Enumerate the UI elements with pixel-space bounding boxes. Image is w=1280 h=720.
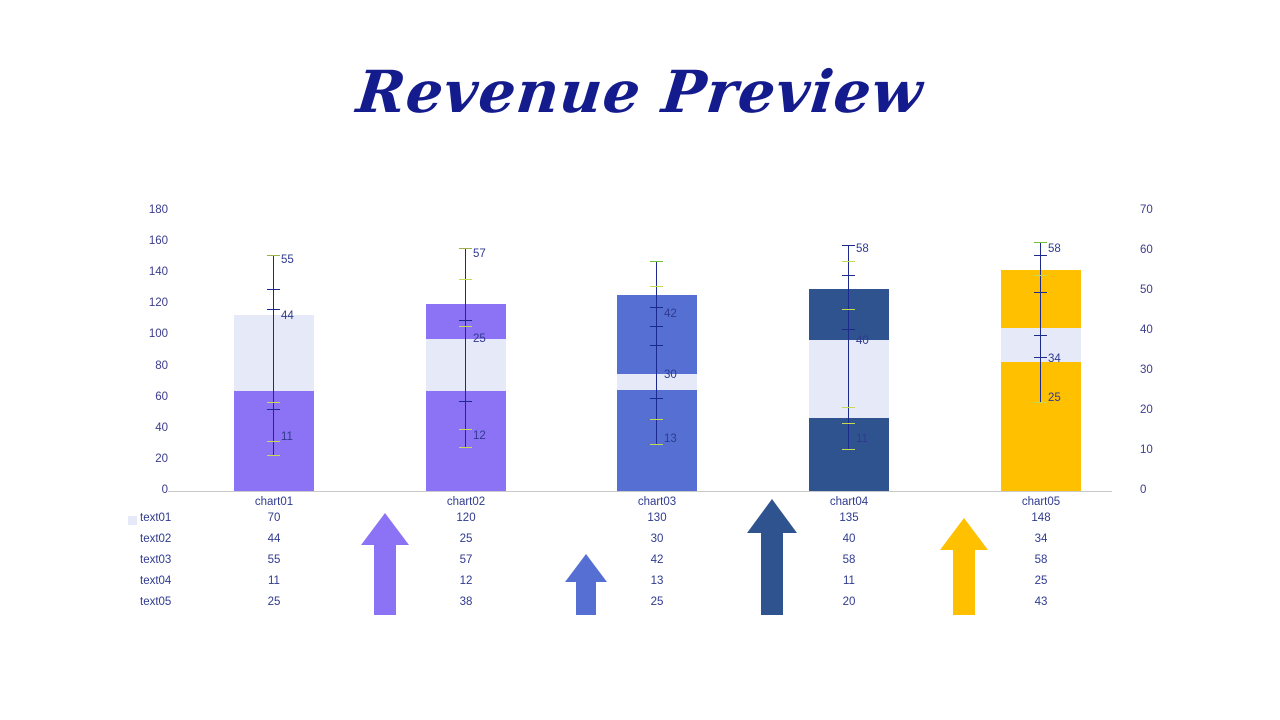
right-axis-tick: 50 xyxy=(1140,284,1180,296)
page-title: Revenue Preview xyxy=(0,62,1280,123)
table-cell: 58 xyxy=(789,554,909,566)
table-cell: 12 xyxy=(406,575,526,587)
table-cell: 44 xyxy=(214,533,334,545)
arrow-purple-icon xyxy=(361,513,409,615)
right-axis-tick: 40 xyxy=(1140,324,1180,336)
column-chart02[interactable] xyxy=(426,208,506,491)
error-bar-cap xyxy=(842,309,855,310)
table-cell: 130 xyxy=(597,512,717,524)
right-axis-tick: 20 xyxy=(1140,404,1180,416)
arrow-head xyxy=(747,499,797,533)
error-bar-cap xyxy=(842,329,855,330)
table-row: text035557425858 xyxy=(0,554,1280,575)
left-axis-tick: 0 xyxy=(128,484,168,496)
error-bar-cap xyxy=(650,345,663,346)
data-label: 42 xyxy=(664,308,677,320)
table-cell: 25 xyxy=(597,596,717,608)
data-label: 30 xyxy=(664,369,677,381)
error-bar-cap xyxy=(842,275,855,276)
left-axis-tick: 40 xyxy=(128,422,168,434)
error-bar-cap xyxy=(267,289,280,290)
left-axis-tick: 180 xyxy=(128,204,168,216)
error-bar-cap xyxy=(267,409,280,410)
error-bar-cap xyxy=(1034,335,1047,336)
column-chart05[interactable] xyxy=(1001,208,1081,491)
data-label: 25 xyxy=(1048,392,1061,404)
error-bar-cap xyxy=(459,248,472,249)
error-bar-cap xyxy=(842,423,855,424)
table-cell: 13 xyxy=(597,575,717,587)
table-cell: 11 xyxy=(214,575,334,587)
error-bar xyxy=(848,245,849,449)
data-label: 25 xyxy=(473,333,486,345)
bar-segment[interactable] xyxy=(617,390,697,491)
column-chart01[interactable] xyxy=(234,208,314,491)
arrow-head xyxy=(361,513,409,545)
error-bar-cap xyxy=(1034,255,1047,256)
data-label: 12 xyxy=(473,430,486,442)
table-cell: 57 xyxy=(406,554,526,566)
error-bar-cap xyxy=(650,419,663,420)
error-bar-cap xyxy=(650,398,663,399)
error-bar xyxy=(273,255,274,456)
right-axis-tick: 30 xyxy=(1140,364,1180,376)
plot-area: 554411572512423013584011583425 xyxy=(172,208,1107,492)
left-axis-tick: 140 xyxy=(128,266,168,278)
left-axis-tick: 100 xyxy=(128,328,168,340)
error-bar-cap xyxy=(459,279,472,280)
table-row: text052538252043 xyxy=(0,596,1280,617)
bar-segment[interactable] xyxy=(426,391,506,491)
bar-segment[interactable] xyxy=(426,339,506,392)
category-label-chart03: chart03 xyxy=(597,496,717,508)
error-bar-cap xyxy=(459,320,472,321)
error-bar-cap xyxy=(459,429,472,430)
bar-segment[interactable] xyxy=(234,315,314,391)
column-chart03[interactable] xyxy=(617,208,697,491)
table-cell: 34 xyxy=(981,533,1101,545)
table-cell: 120 xyxy=(406,512,526,524)
bar-segment[interactable] xyxy=(809,418,889,491)
error-bar-cap xyxy=(650,307,663,308)
table-row: text0170120130135148 xyxy=(0,512,1280,533)
arrow-shaft xyxy=(761,532,783,615)
right-axis-tick: 0 xyxy=(1140,484,1180,496)
error-bar-cap xyxy=(1034,357,1047,358)
data-label: 58 xyxy=(1048,243,1061,255)
category-label-chart02: chart02 xyxy=(406,496,526,508)
error-bar-cap xyxy=(650,261,663,262)
left-axis-tick: 80 xyxy=(128,360,168,372)
error-bar-cap xyxy=(1034,275,1047,276)
slide-canvas: Revenue Preview 180160140120100806040200… xyxy=(0,0,1280,720)
error-bar-cap xyxy=(267,255,280,256)
arrow-head xyxy=(940,518,988,550)
arrow-navy-icon xyxy=(747,499,797,615)
table-cell: 38 xyxy=(406,596,526,608)
data-label: 11 xyxy=(856,433,868,445)
left-axis-tick: 160 xyxy=(128,235,168,247)
data-label: 57 xyxy=(473,248,486,260)
error-bar-cap xyxy=(459,326,472,327)
table-cell: 148 xyxy=(981,512,1101,524)
error-bar xyxy=(465,248,466,447)
error-bar xyxy=(656,261,657,445)
error-bar-cap xyxy=(267,309,280,310)
error-bar-cap xyxy=(842,261,855,262)
table-cell: 70 xyxy=(214,512,334,524)
error-bar-cap xyxy=(1034,292,1047,293)
category-label-chart01: chart01 xyxy=(214,496,334,508)
arrow-shaft xyxy=(374,544,396,615)
data-label: 13 xyxy=(664,433,677,445)
table-cell: 11 xyxy=(789,575,909,587)
error-bar xyxy=(1040,242,1041,402)
arrow-shaft xyxy=(953,549,975,615)
error-bar-cap xyxy=(459,401,472,402)
error-bar-cap xyxy=(1034,402,1047,403)
error-bar-cap xyxy=(650,444,663,445)
table-row: text041112131125 xyxy=(0,575,1280,596)
bar-segment[interactable] xyxy=(426,304,506,338)
error-bar-cap xyxy=(267,455,280,456)
table-cell: 43 xyxy=(981,596,1101,608)
error-bar-cap xyxy=(842,449,855,450)
left-axis-tick: 60 xyxy=(128,391,168,403)
table-cell: 40 xyxy=(789,533,909,545)
table-cell: 25 xyxy=(214,596,334,608)
error-bar-cap xyxy=(650,286,663,287)
category-label-chart04: chart04 xyxy=(789,496,909,508)
error-bar-cap xyxy=(842,245,855,246)
bar-segment[interactable] xyxy=(809,289,889,340)
arrow-gold-icon xyxy=(940,518,988,615)
table-row: text024425304034 xyxy=(0,533,1280,554)
data-label: 58 xyxy=(856,243,869,255)
data-label: 11 xyxy=(281,431,293,443)
table-cell: 20 xyxy=(789,596,909,608)
error-bar-cap xyxy=(842,407,855,408)
right-axis-tick: 10 xyxy=(1140,444,1180,456)
arrow-head xyxy=(565,554,607,582)
arrow-blue-icon xyxy=(565,554,607,615)
error-bar-cap xyxy=(267,402,280,403)
data-label: 40 xyxy=(856,335,869,347)
left-axis-tick: 20 xyxy=(128,453,168,465)
left-axis-tick: 120 xyxy=(128,297,168,309)
bar-segment[interactable] xyxy=(1001,270,1081,328)
category-label-chart05: chart05 xyxy=(981,496,1101,508)
table-cell: 25 xyxy=(981,575,1101,587)
table-cell: 58 xyxy=(981,554,1101,566)
error-bar-cap xyxy=(1034,242,1047,243)
table-cell: 135 xyxy=(789,512,909,524)
table-cell: 25 xyxy=(406,533,526,545)
right-axis-tick: 70 xyxy=(1140,204,1180,216)
table-cell: 55 xyxy=(214,554,334,566)
data-table: text0170120130135148text024425304034text… xyxy=(0,512,1280,617)
column-chart04[interactable] xyxy=(809,208,889,491)
data-label: 44 xyxy=(281,310,294,322)
bar-segment[interactable] xyxy=(1001,362,1081,491)
table-cell: 30 xyxy=(597,533,717,545)
table-cell: 42 xyxy=(597,554,717,566)
data-label: 34 xyxy=(1048,353,1061,365)
bar-segment[interactable] xyxy=(617,374,697,390)
error-bar-cap xyxy=(459,447,472,448)
right-axis-tick: 60 xyxy=(1140,244,1180,256)
data-label: 55 xyxy=(281,254,294,266)
legend-swatch-icon xyxy=(128,516,137,525)
error-bar-cap xyxy=(267,441,280,442)
error-bar-cap xyxy=(650,326,663,327)
arrow-shaft xyxy=(576,581,596,615)
